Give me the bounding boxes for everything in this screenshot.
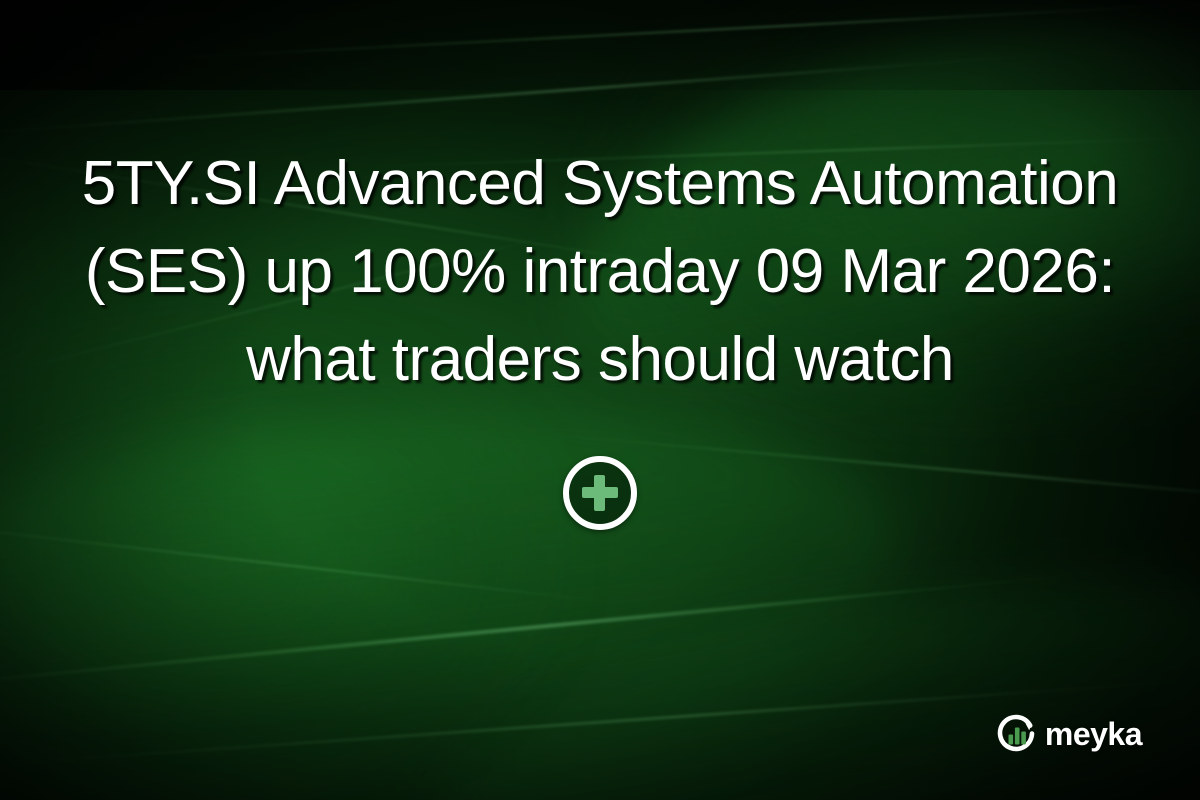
headline-title: 5TY.SI Advanced Systems Automation (SES)… xyxy=(0,140,1200,404)
plus-glyph xyxy=(581,474,619,512)
plus-circle-icon[interactable] xyxy=(563,456,637,530)
meyka-circular-chart-icon xyxy=(995,712,1039,756)
social-share-card: 5TY.SI Advanced Systems Automation (SES)… xyxy=(0,0,1200,800)
card-content: 5TY.SI Advanced Systems Automation (SES)… xyxy=(0,0,1200,800)
plus-vertical-bar xyxy=(594,475,605,511)
brand-logo[interactable]: meyka xyxy=(995,712,1142,756)
brand-name: meyka xyxy=(1045,718,1142,750)
